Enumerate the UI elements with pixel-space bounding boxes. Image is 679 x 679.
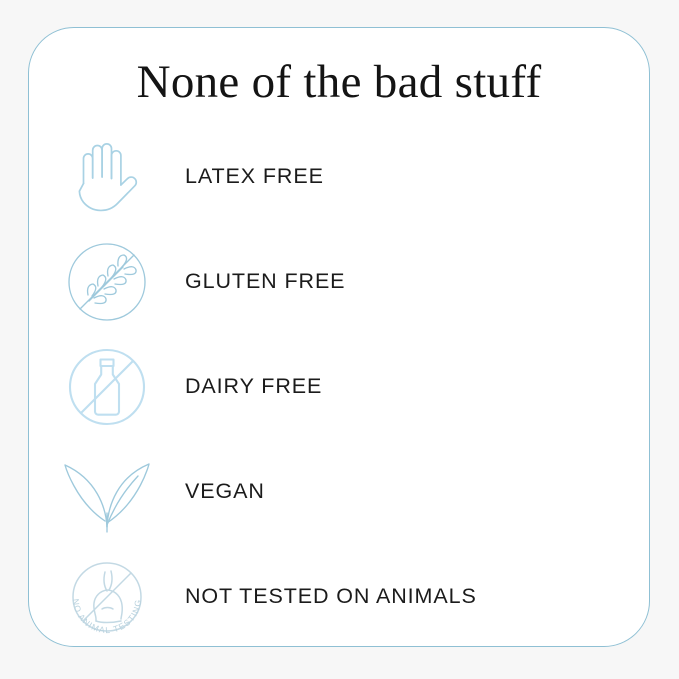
no-dairy-bottle-icon <box>29 341 185 433</box>
list-item: LATEX FREE <box>29 124 649 229</box>
no-animal-testing-rabbit-icon: NO ANIMAL TESTING <box>29 551 185 643</box>
badge-ring-label: NO ANIMAL TESTING <box>71 598 143 635</box>
badge-ring-label-text: NO ANIMAL TESTING <box>71 598 143 635</box>
no-gluten-wheat-icon <box>29 236 185 328</box>
list-item: VEGAN <box>29 439 649 544</box>
list-item-label: GLUTEN FREE <box>185 269 345 294</box>
list-item-label: DAIRY FREE <box>185 374 322 399</box>
list-item-label: NOT TESTED ON ANIMALS <box>185 584 477 609</box>
hand-palm-icon <box>29 131 185 223</box>
list-item: DAIRY FREE <box>29 334 649 439</box>
product-claims-graphic: None of the bad stuff LATEX FREE <box>0 0 679 679</box>
claims-card: None of the bad stuff LATEX FREE <box>28 27 650 647</box>
list-item-label: VEGAN <box>185 479 265 504</box>
list-item-label: LATEX FREE <box>185 164 324 189</box>
list-item: GLUTEN FREE <box>29 229 649 334</box>
list-item: NO ANIMAL TESTING NOT TESTED ON ANIMALS <box>29 544 649 649</box>
claims-list: LATEX FREE <box>29 124 649 649</box>
page-title: None of the bad stuff <box>29 57 649 109</box>
vegan-leaves-icon <box>29 446 185 538</box>
